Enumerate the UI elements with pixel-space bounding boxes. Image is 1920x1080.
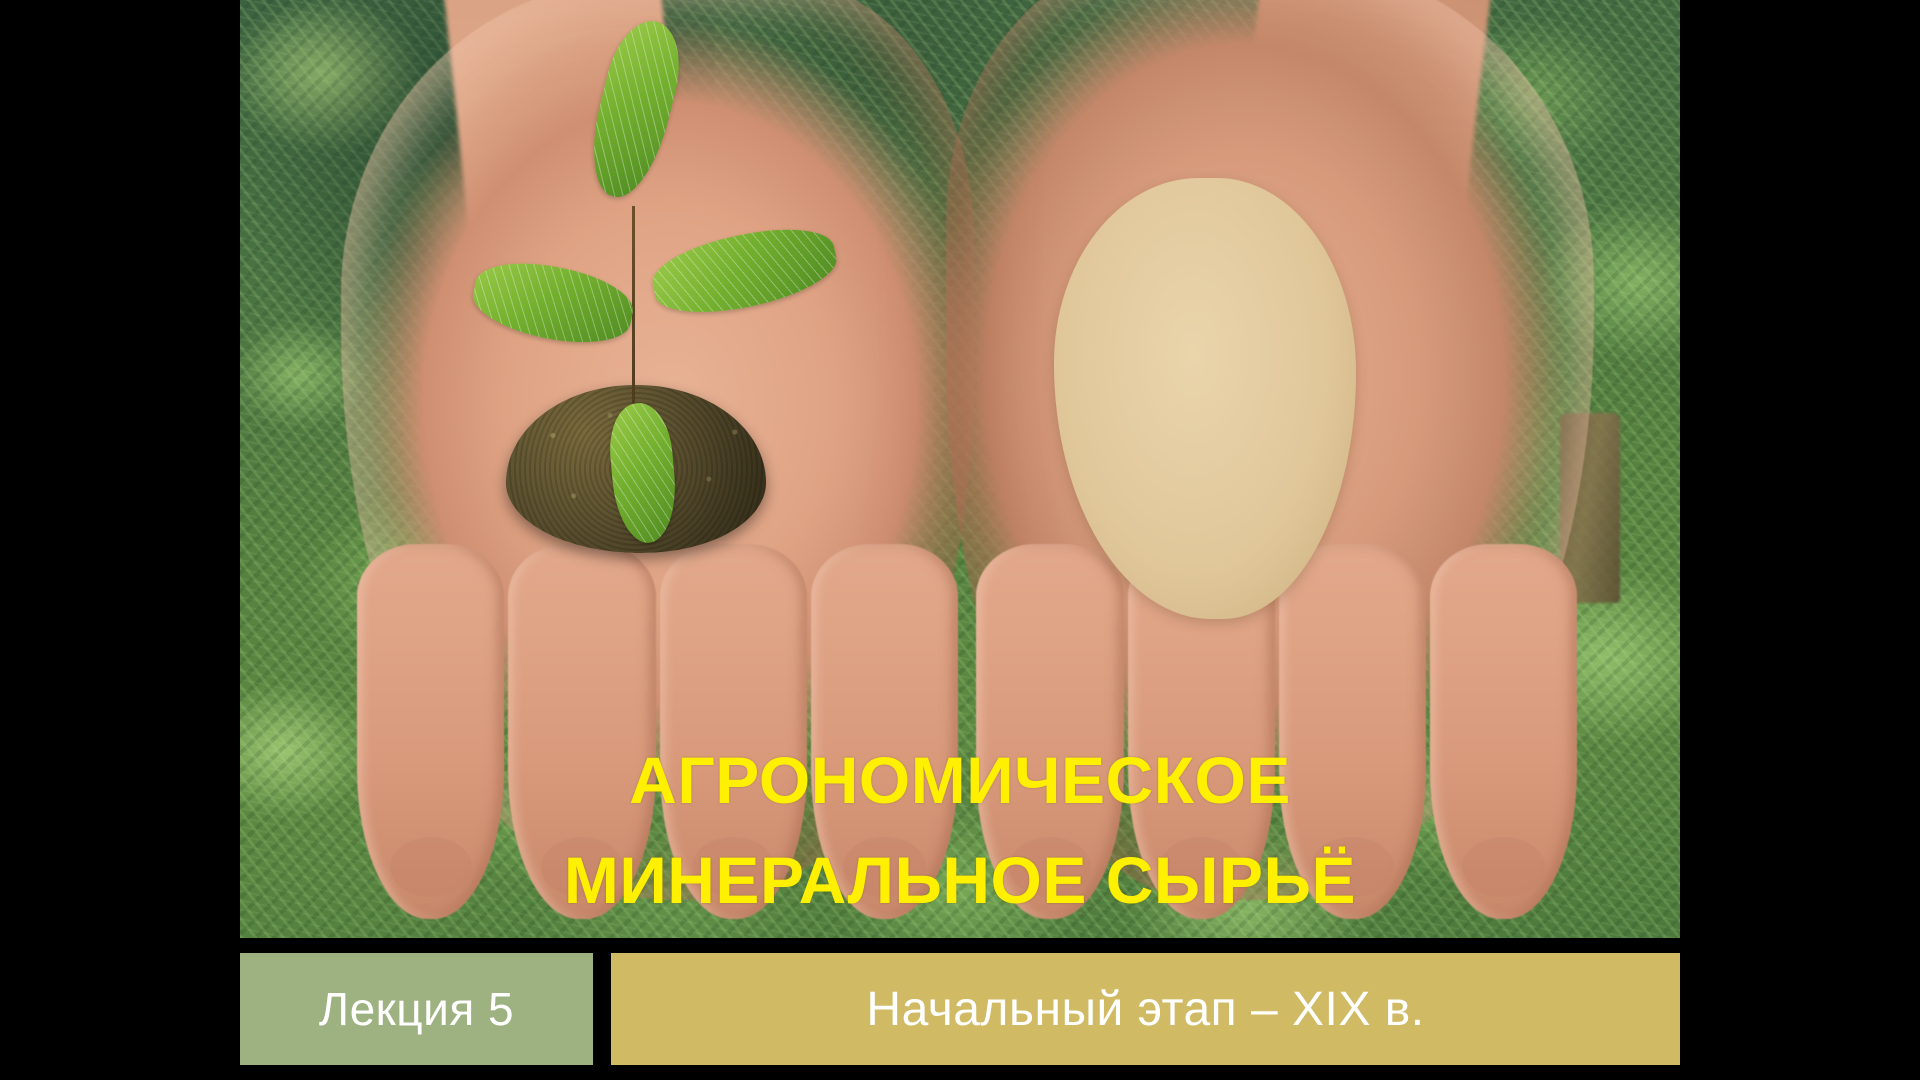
finger xyxy=(508,544,655,919)
finger xyxy=(976,544,1123,919)
left-hand-fingers xyxy=(355,544,960,919)
finger xyxy=(811,544,958,919)
right-hand-fingers xyxy=(974,544,1579,919)
finger xyxy=(357,544,504,919)
finger xyxy=(660,544,807,919)
finger xyxy=(1279,544,1426,919)
lecture-number-label: Лекция 5 xyxy=(319,982,514,1036)
title-slide-photo xyxy=(240,0,1680,938)
subtitle-bar: Начальный этап – XIX в. xyxy=(611,953,1680,1065)
presentation-slide: АГРОНОМИЧЕСКОЕ МИНЕРАЛЬНОЕ СЫРЬЁ Лекция … xyxy=(0,0,1920,1080)
lecture-number-bar: Лекция 5 xyxy=(240,953,593,1065)
subtitle-label: Начальный этап – XIX в. xyxy=(866,982,1424,1037)
finger xyxy=(1430,544,1577,919)
